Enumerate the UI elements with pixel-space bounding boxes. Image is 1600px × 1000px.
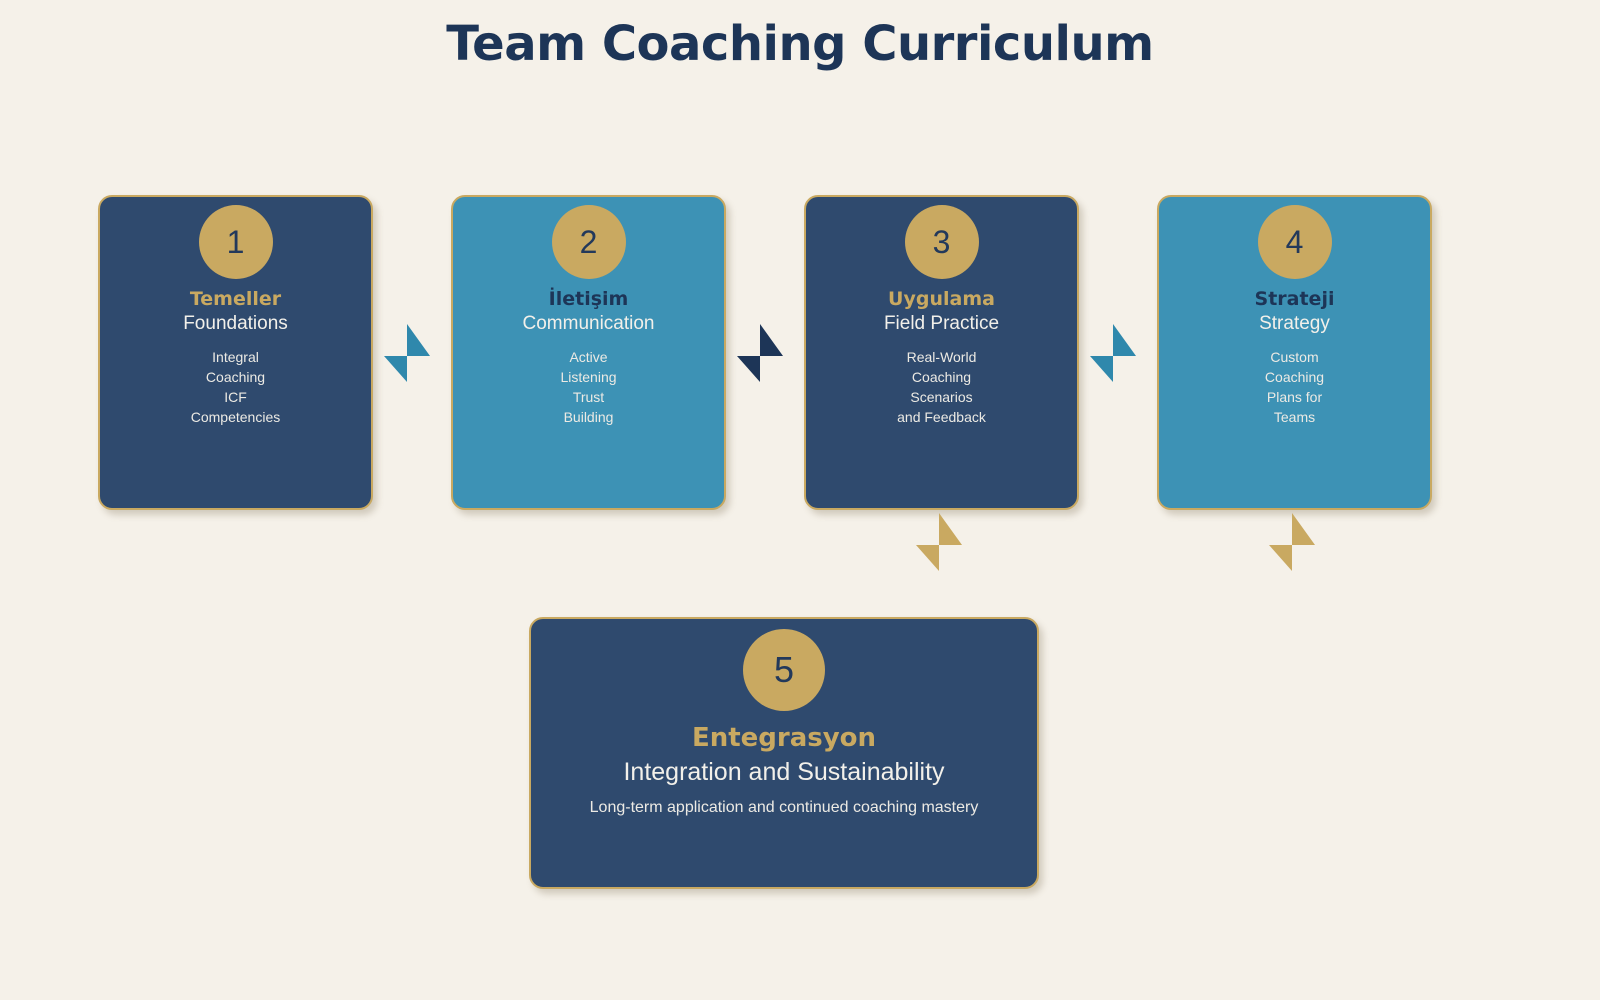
step-title-5: Entegrasyon	[531, 722, 1037, 754]
step-number-badge-2: 2	[552, 205, 626, 279]
step-number-badge-1: 1	[199, 205, 273, 279]
step-number-badge-3: 3	[905, 205, 979, 279]
step-card-4[interactable]: 4 Strateji Strategy Custom Coaching Plan…	[1157, 195, 1432, 510]
step-card-5[interactable]: 5 Entegrasyon Integration and Sustainabi…	[529, 617, 1039, 889]
step-subtitle-4: Strategy	[1159, 312, 1430, 336]
step-description-2: Active Listening Trust Building	[453, 347, 724, 427]
arrow-down-pinwheel-icon	[1266, 511, 1318, 573]
step-description-1: Integral Coaching ICF Competencies	[100, 347, 371, 427]
step-description-4: Custom Coaching Plans for Teams	[1159, 347, 1430, 427]
step-title-2: İletişim	[453, 287, 724, 311]
step-description-5: Long-term application and continued coac…	[531, 797, 1037, 819]
connector-3-to-5	[913, 511, 965, 573]
connector-4-to-5	[1266, 511, 1318, 573]
arrow-right-pinwheel-icon	[1087, 322, 1139, 384]
arrow-right-pinwheel-icon	[381, 322, 433, 384]
step-description-3: Real-World Coaching Scenarios and Feedba…	[806, 347, 1077, 427]
step-card-1[interactable]: 1 Temeller Foundations Integral Coaching…	[98, 195, 373, 510]
step-title-4: Strateji	[1159, 287, 1430, 311]
diagram-canvas: Team Coaching Curriculum 1 Temeller Foun…	[0, 0, 1600, 1000]
step-number-badge-5: 5	[743, 629, 825, 711]
page-title: Team Coaching Curriculum	[0, 14, 1600, 74]
step-title-3: Uygulama	[806, 287, 1077, 311]
step-subtitle-3: Field Practice	[806, 312, 1077, 336]
step-card-2[interactable]: 2 İletişim Communication Active Listenin…	[451, 195, 726, 510]
arrow-right-pinwheel-icon	[734, 322, 786, 384]
step-subtitle-2: Communication	[453, 312, 724, 336]
connector-3-to-4	[1087, 322, 1139, 384]
step-subtitle-5: Integration and Sustainability	[531, 756, 1037, 788]
step-card-3[interactable]: 3 Uygulama Field Practice Real-World Coa…	[804, 195, 1079, 510]
step-number-badge-4: 4	[1258, 205, 1332, 279]
connector-1-to-2	[381, 322, 433, 384]
connector-2-to-3	[734, 322, 786, 384]
step-title-1: Temeller	[100, 287, 371, 311]
step-subtitle-1: Foundations	[100, 312, 371, 336]
arrow-down-pinwheel-icon	[913, 511, 965, 573]
